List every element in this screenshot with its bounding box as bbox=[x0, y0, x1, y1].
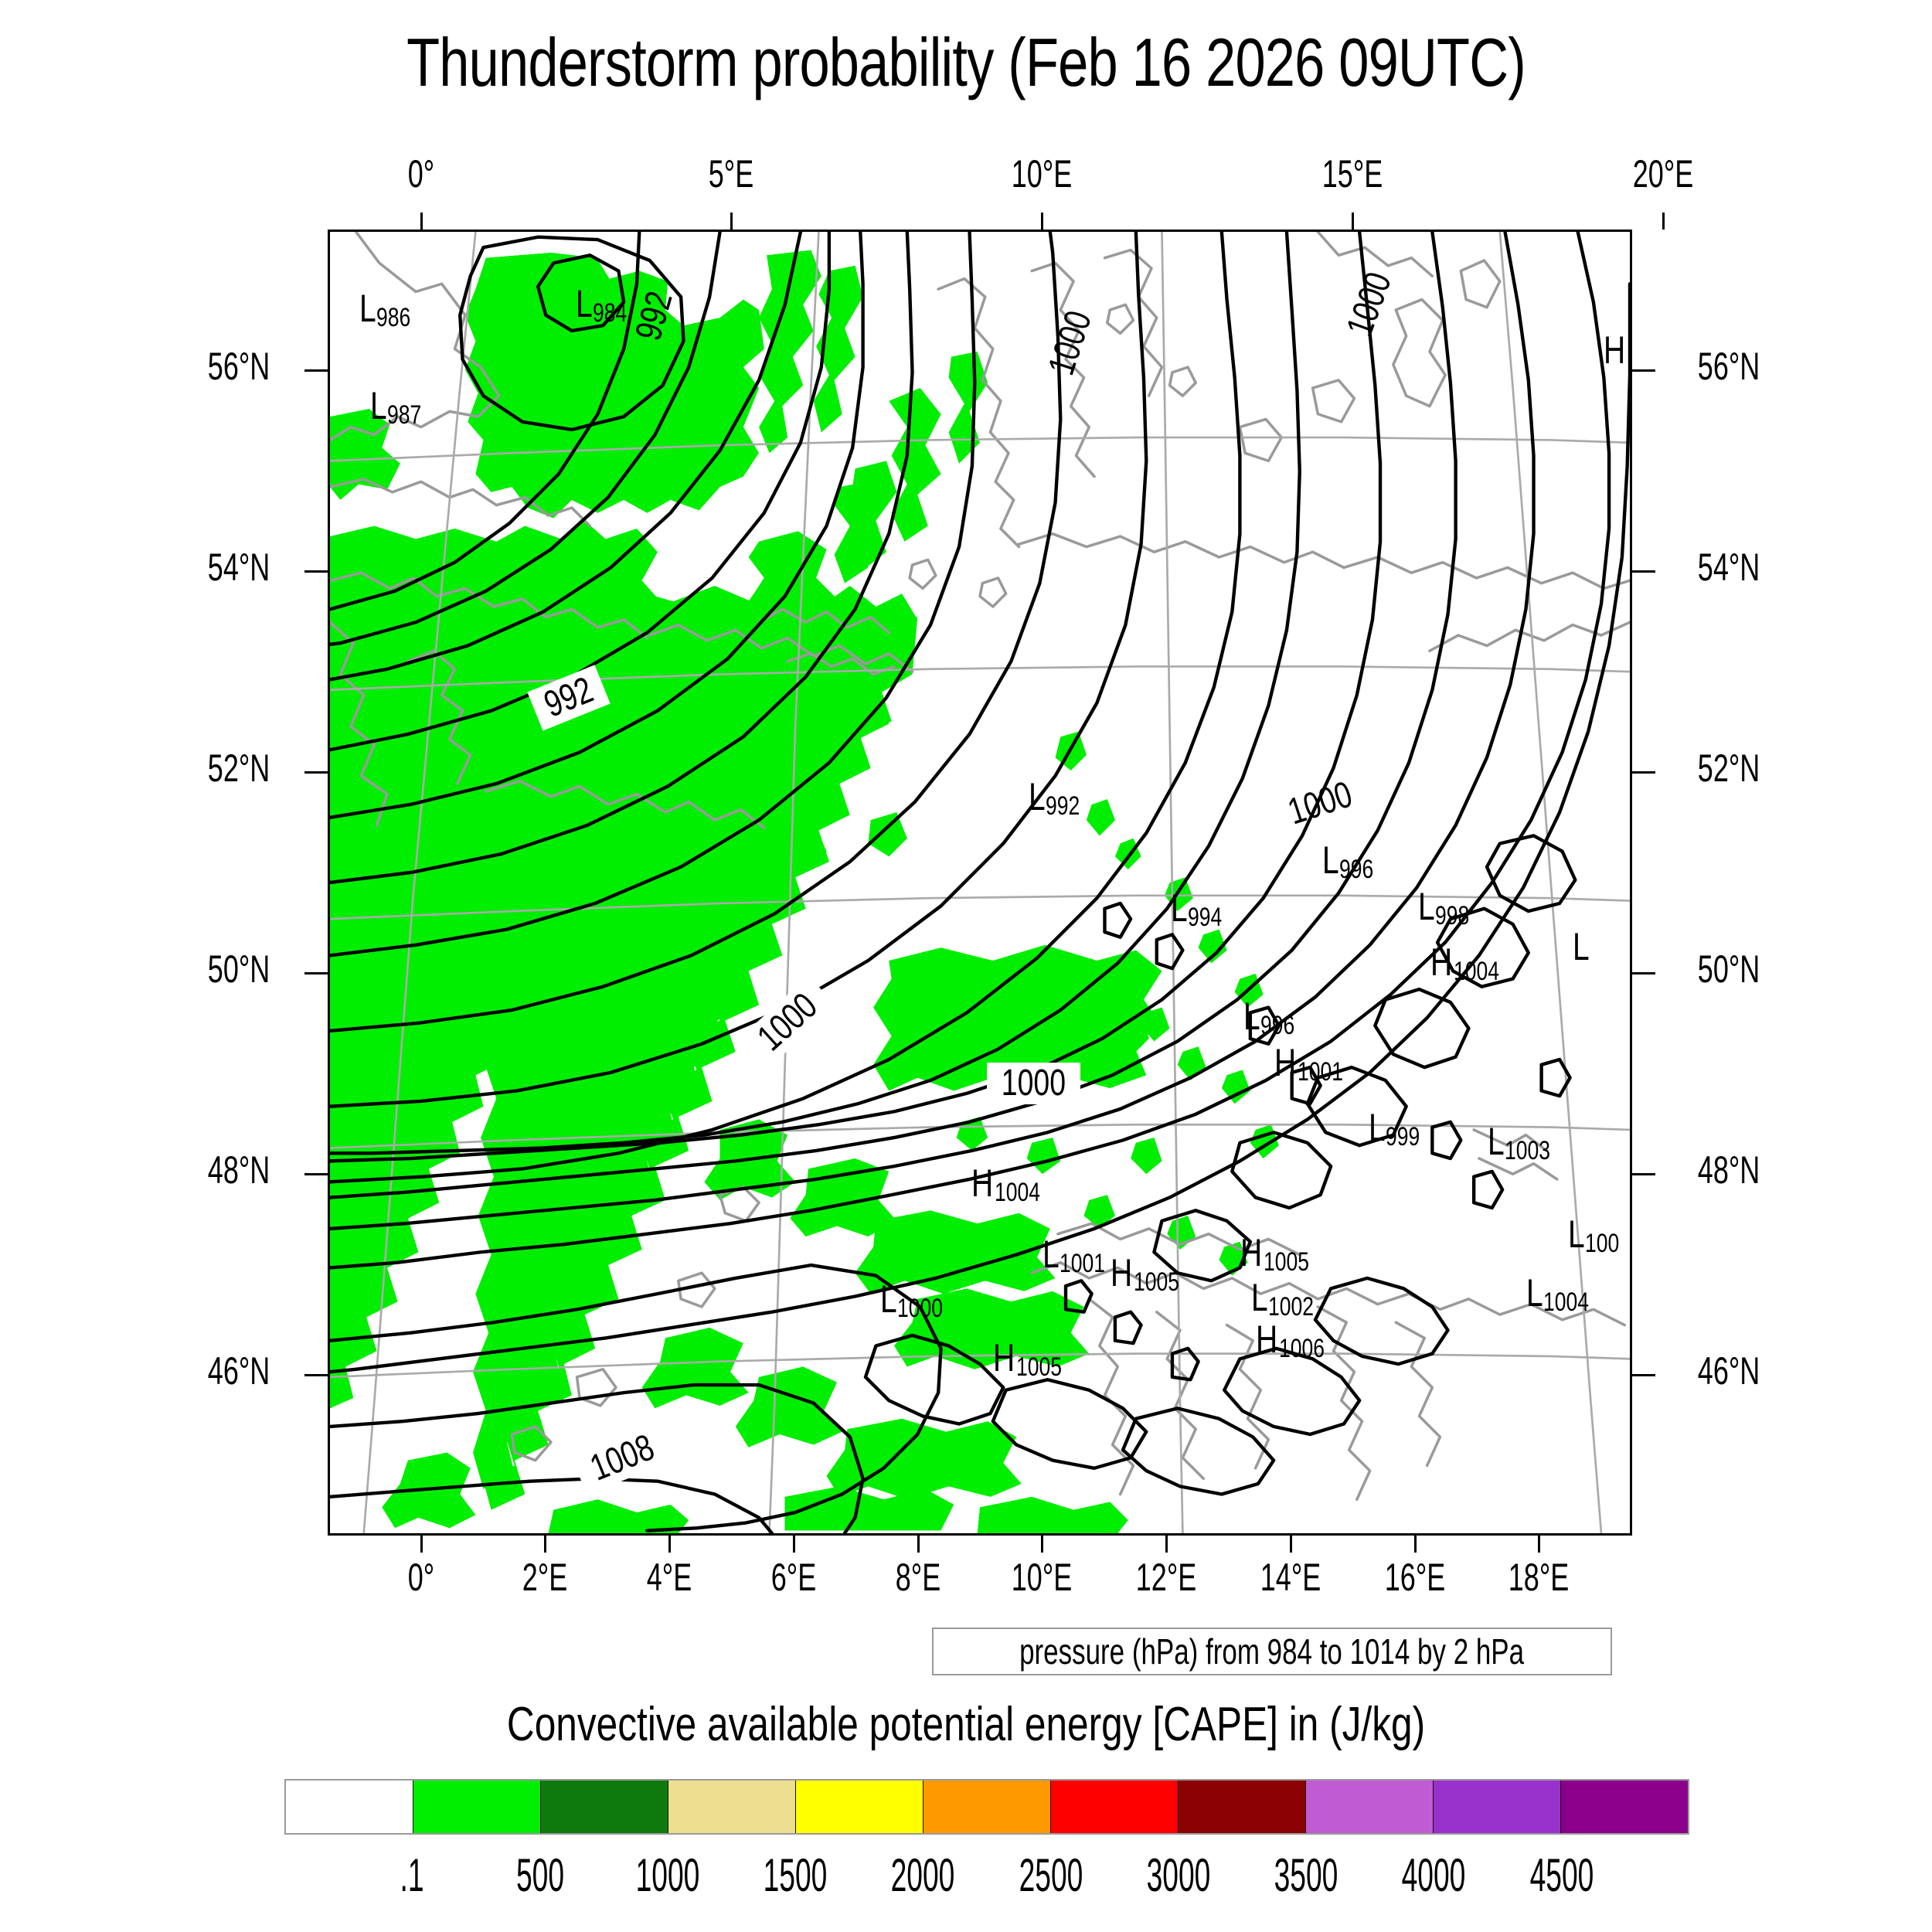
pressure-centre-L984: L984 bbox=[576, 284, 637, 326]
weather-map-canvas bbox=[330, 232, 1630, 1533]
axis-tick bbox=[793, 1536, 795, 1553]
axis-tick bbox=[1632, 369, 1655, 372]
colorbar-tick-3000: 3000 bbox=[1135, 1849, 1222, 1902]
colorbar-tick-.1: .1 bbox=[369, 1849, 455, 1902]
pressure-centre-L999: L999 bbox=[1369, 1108, 1430, 1150]
lat-label-left-46°N: 46°N bbox=[208, 1349, 330, 1393]
pressure-centre-H1006: H1006 bbox=[1256, 1320, 1338, 1362]
pressure-centre-H1004b: H1004 bbox=[971, 1164, 1053, 1206]
axis-tick bbox=[1352, 213, 1354, 230]
colorbar-segment-10 bbox=[1561, 1781, 1688, 1833]
colorbar-tick-1000: 1000 bbox=[624, 1849, 711, 1902]
lon-label-bottom-18°E: 18°E bbox=[1467, 1555, 1611, 1600]
axis-tick bbox=[1538, 1536, 1540, 1553]
colorbar-tick-4500: 4500 bbox=[1519, 1849, 1605, 1902]
axis-tick bbox=[1041, 213, 1043, 230]
lon-label-bottom-2°E: 2°E bbox=[473, 1555, 617, 1600]
lon-label-top-0°: 0° bbox=[349, 151, 493, 196]
axis-tick bbox=[1632, 570, 1655, 573]
pressure-legend-box: pressure (hPa) from 984 to 1014 by 2 hPa bbox=[932, 1628, 1612, 1675]
axis-tick bbox=[1290, 1536, 1292, 1553]
colorbar bbox=[284, 1779, 1689, 1835]
axis-tick bbox=[668, 1536, 671, 1553]
axis-tick bbox=[304, 1173, 328, 1175]
axis-tick bbox=[1414, 1536, 1417, 1553]
colorbar-segment-4 bbox=[796, 1781, 923, 1833]
axis-tick bbox=[1662, 213, 1665, 230]
map-panel: 992 1000 1000 992 1000 1000 1000 1008 10… bbox=[328, 230, 1632, 1536]
pressure-centre-L1001: L1001 bbox=[1043, 1235, 1117, 1277]
pressure-centre-L986: L986 bbox=[359, 289, 420, 331]
lat-label-right-54°N: 54°N bbox=[1698, 545, 1820, 590]
colorbar-segment-1 bbox=[413, 1781, 541, 1833]
lat-label-right-48°N: 48°N bbox=[1698, 1148, 1820, 1192]
pressure-centre-H1001: H1001 bbox=[1274, 1043, 1356, 1085]
colorbar-labels: .150010001500200025003000350040004500 bbox=[284, 1849, 1689, 1910]
lat-label-left-56°N: 56°N bbox=[208, 344, 330, 389]
lon-label-bottom-0°: 0° bbox=[349, 1555, 493, 1600]
axis-tick bbox=[730, 213, 733, 230]
colorbar-segment-6 bbox=[1051, 1781, 1179, 1833]
colorbar-segment-2 bbox=[541, 1781, 668, 1833]
lon-label-bottom-6°E: 6°E bbox=[721, 1555, 866, 1600]
pressure-centre-H1005a: H1005 bbox=[1111, 1253, 1192, 1295]
map-frame: 992 1000 1000 992 1000 1000 1000 1008 10… bbox=[328, 230, 1632, 1536]
colorbar-tick-3500: 3500 bbox=[1263, 1849, 1349, 1902]
axis-tick bbox=[304, 1374, 328, 1376]
pressure-centre-L996b: L996 bbox=[1243, 997, 1304, 1039]
colorbar-segment-0 bbox=[286, 1781, 413, 1833]
lon-label-bottom-8°E: 8°E bbox=[845, 1555, 990, 1600]
pressure-centre-L992: L992 bbox=[1029, 777, 1090, 819]
colorbar-segment-5 bbox=[923, 1781, 1051, 1833]
pressure-centre-L1004: L1004 bbox=[1526, 1274, 1601, 1315]
axis-tick bbox=[544, 1536, 546, 1553]
colorbar-title: Convective available potential energy [C… bbox=[193, 1697, 1739, 1752]
pressure-centre-H1005b: H1005 bbox=[1240, 1233, 1322, 1275]
lat-label-left-48°N: 48°N bbox=[208, 1148, 330, 1192]
lon-label-top-5°E: 5°E bbox=[659, 151, 804, 196]
colorbar-segment-9 bbox=[1434, 1781, 1561, 1833]
colorbar-tick-2000: 2000 bbox=[880, 1849, 967, 1902]
pressure-centre-L1003: L1003 bbox=[1488, 1122, 1563, 1164]
axis-tick bbox=[1632, 771, 1655, 774]
page-title: Thunderstorm probability (Feb 16 2026 09… bbox=[193, 23, 1739, 102]
axis-tick bbox=[1632, 1374, 1655, 1376]
pressure-centre-L994: L994 bbox=[1171, 889, 1232, 930]
lon-label-top-10°E: 10°E bbox=[970, 151, 1114, 196]
lon-label-top-20°E: 20°E bbox=[1591, 151, 1736, 196]
pressure-centre-H1005c: H1005 bbox=[993, 1338, 1075, 1380]
pressure-centre-L1000: L1000 bbox=[880, 1280, 955, 1321]
pressure-legend-text: pressure (hPa) from 984 to 1014 by 2 hPa bbox=[1020, 1631, 1525, 1672]
axis-tick bbox=[420, 1536, 423, 1553]
colorbar-tick-500: 500 bbox=[497, 1849, 583, 1902]
lon-label-bottom-4°E: 4°E bbox=[597, 1555, 741, 1600]
colorbar-tick-4000: 4000 bbox=[1391, 1849, 1478, 1902]
lat-label-left-52°N: 52°N bbox=[208, 746, 330, 791]
pressure-centre-L-edge: L bbox=[1573, 927, 1590, 966]
pressure-centre-L1002: L1002 bbox=[1251, 1278, 1326, 1320]
axis-tick bbox=[304, 771, 328, 774]
axis-tick bbox=[304, 570, 328, 573]
axis-tick bbox=[1632, 1173, 1655, 1175]
colorbar-tick-1500: 1500 bbox=[752, 1849, 838, 1902]
axis-tick bbox=[1165, 1536, 1168, 1553]
lon-label-top-15°E: 15°E bbox=[1281, 151, 1425, 196]
pressure-centre-H1: H1 bbox=[1604, 331, 1632, 372]
colorbar-segment-3 bbox=[668, 1781, 796, 1833]
lat-label-right-46°N: 46°N bbox=[1698, 1349, 1820, 1393]
pressure-centre-L987: L987 bbox=[370, 386, 431, 428]
lat-label-left-50°N: 50°N bbox=[208, 947, 330, 992]
colorbar-tick-2500: 2500 bbox=[1008, 1849, 1094, 1902]
contour-label: 1000 bbox=[987, 1063, 1080, 1104]
axis-tick bbox=[304, 972, 328, 975]
colorbar-segment-8 bbox=[1306, 1781, 1434, 1833]
lon-label-bottom-14°E: 14°E bbox=[1218, 1555, 1362, 1600]
pressure-centre-L996a: L996 bbox=[1322, 841, 1383, 883]
pressure-centre-H1004a: H1004 bbox=[1430, 943, 1512, 985]
axis-tick bbox=[917, 1536, 920, 1553]
lon-label-bottom-12°E: 12°E bbox=[1094, 1555, 1239, 1600]
axis-tick bbox=[1632, 972, 1655, 975]
pressure-centre-L100: L100 bbox=[1568, 1215, 1629, 1257]
lat-label-right-50°N: 50°N bbox=[1698, 947, 1820, 992]
lat-label-right-52°N: 52°N bbox=[1698, 746, 1820, 791]
pressure-centre-L998: L998 bbox=[1418, 887, 1479, 929]
axis-tick bbox=[420, 213, 423, 230]
axis-tick bbox=[304, 369, 328, 372]
colorbar-segment-7 bbox=[1179, 1781, 1306, 1833]
axis-tick bbox=[1041, 1536, 1043, 1553]
lon-label-bottom-16°E: 16°E bbox=[1342, 1555, 1487, 1600]
lat-label-right-56°N: 56°N bbox=[1698, 344, 1820, 389]
lat-label-left-54°N: 54°N bbox=[208, 545, 330, 590]
lon-label-bottom-10°E: 10°E bbox=[970, 1555, 1114, 1600]
